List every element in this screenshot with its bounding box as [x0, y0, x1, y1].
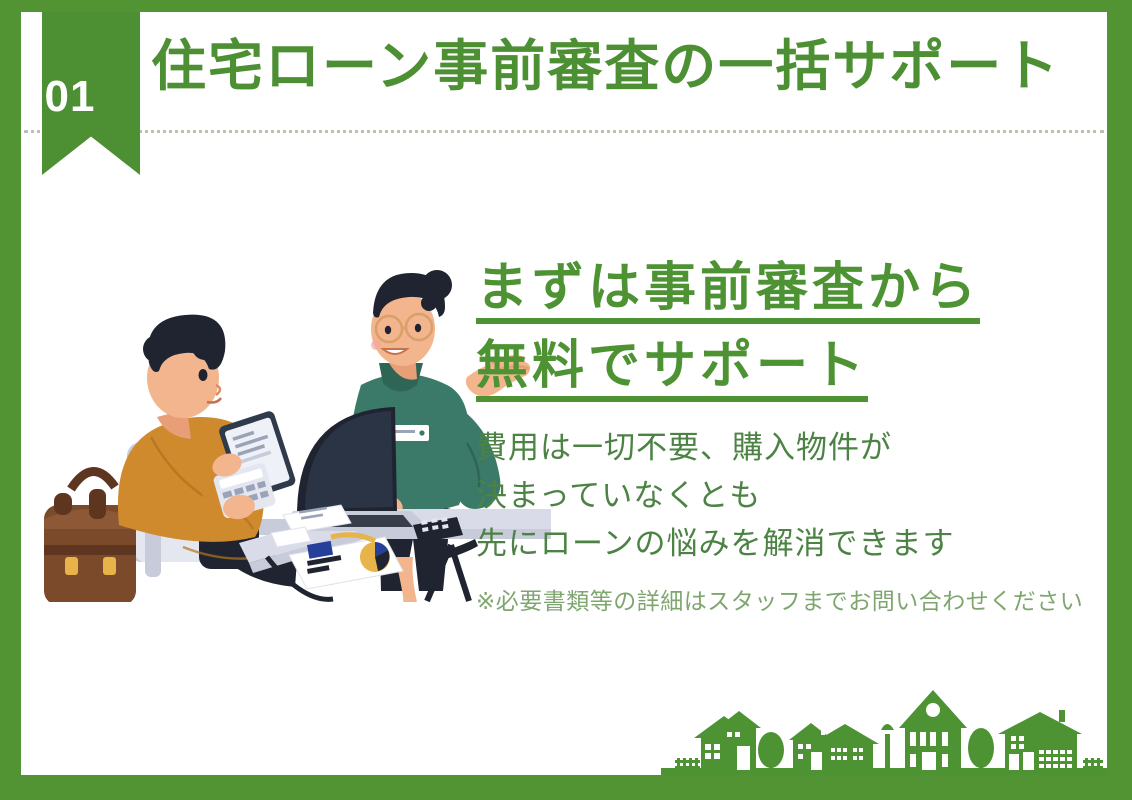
- body-text-block: 費用は一切不要、購入物件が 決まっていなくとも 先にローンの悩みを解消できます: [476, 424, 1101, 568]
- slide-inner-panel: 01 住宅ローン事前審査の一括サポート: [21, 12, 1107, 775]
- main-text-column: まずは事前審査から 無料でサポート 費用は一切不要、購入物件が 決まっていなくと…: [476, 262, 1101, 616]
- neighborhood-silhouette: [661, 672, 1107, 775]
- headline-line-2: 無料でサポート: [476, 340, 1101, 402]
- headline-line-1: まずは事前審査から: [476, 262, 1101, 324]
- consultation-scene-svg: [31, 257, 551, 602]
- header: 01 住宅ローン事前審査の一括サポート: [21, 12, 1107, 142]
- header-divider: [24, 130, 1104, 133]
- slide-root: 01 住宅ローン事前審査の一括サポート: [0, 0, 1132, 800]
- footnote: ※必要書類等の詳細はスタッフまでお問い合わせください: [476, 582, 1101, 616]
- page-title: 住宅ローン事前審査の一括サポート: [151, 38, 1101, 96]
- headline-line-1-text: まずは事前審査から: [476, 262, 980, 324]
- body-line-2: 決まっていなくとも: [476, 472, 1101, 520]
- consultation-illustration: [31, 257, 551, 602]
- headline-line-2-text: 無料でサポート: [476, 340, 868, 402]
- body-line-3: 先にローンの悩みを解消できます: [476, 520, 1101, 568]
- body-line-1: 費用は一切不要、購入物件が: [476, 424, 1101, 472]
- houses-svg: [661, 672, 1107, 775]
- section-number-label: 01: [21, 72, 119, 122]
